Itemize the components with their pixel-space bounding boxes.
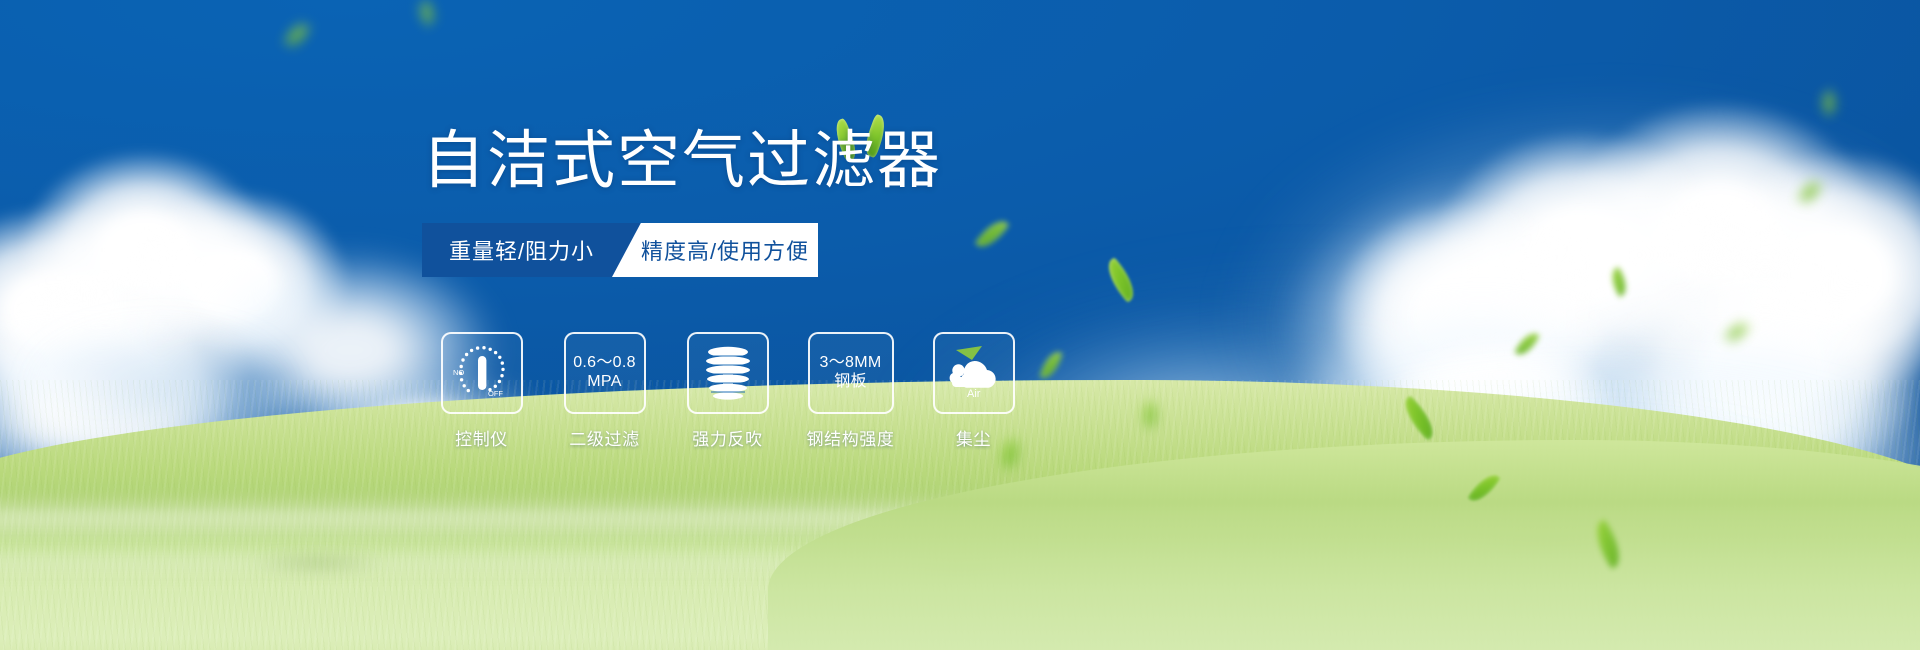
feature-item-pulse-jet[interactable]: 强力反吹 [680,332,775,450]
floating-leaves [0,0,1920,650]
feature-icon-box: 3～8MM 钢板 [808,332,894,414]
leaf-icon [1606,266,1632,297]
feature-label-two-stage-filter: 二级过滤 [569,425,639,450]
feature-icon-box: 0.6～0.8 MPA [564,332,646,414]
leaf-icon [1397,395,1441,441]
gauge-right-label: OFF [488,389,503,398]
feature-item-two-stage-filter[interactable]: 0.6～0.8 MPA 二级过滤 [557,332,652,450]
leaf-icon [284,20,309,50]
tab-precision-convenience[interactable]: 精度高/使用方便 [612,223,818,277]
pressure-text-icon: 0.6～0.8 MPA [573,354,636,392]
steel-plate-text-icon: 3～8MM 钢板 [820,354,882,392]
feature-item-dust-collection[interactable]: Air 集尘 [926,332,1021,450]
feature-icon-box: Air [933,332,1015,414]
leaf-icon [1724,318,1749,346]
gauge-left-label: NO [453,368,464,377]
air-cloud-icon: Air [942,344,1006,402]
banner-title: 自洁式空气过滤器 [422,130,1122,193]
product-banner: 自洁式空气过滤器 重量轻/阻力小 精度高/使用方便 [0,0,1920,650]
feature-label-controller: 控制仪 [455,425,508,450]
leaf-icon [1039,349,1062,382]
feature-label-dust-collection: 集尘 [956,425,991,450]
feature-label-steel-strength: 钢结构强度 [807,425,895,450]
feature-label-pulse-jet: 强力反吹 [692,425,762,450]
leaf-icon [1818,90,1840,116]
feature-item-controller[interactable]: NO OFF 控制仪 [434,332,529,450]
leaf-icon [415,0,439,26]
tab-weight-resistance[interactable]: 重量轻/阻力小 [422,223,645,277]
leaf-icon [1138,400,1162,430]
feature-icon-box: NO OFF [441,332,523,414]
air-label: Air [967,388,981,400]
gauge-dial-icon: NO OFF [452,344,512,402]
feature-icon-box [687,332,769,414]
leaf-icon [1587,518,1628,570]
banner-content: 自洁式空气过滤器 重量轻/阻力小 精度高/使用方便 [422,130,1122,277]
feature-icon-list: NO OFF 控制仪 0.6～0.8 MPA 二级过滤 [434,332,1021,450]
leaf-icon [1467,469,1501,508]
feature-tabs: 重量轻/阻力小 精度高/使用方便 [422,223,818,277]
feature-item-steel-strength[interactable]: 3～8MM 钢板 钢结构强度 [803,332,898,450]
leaf-icon [1514,328,1540,359]
leaf-icon [1798,178,1821,206]
filter-cartridge-icon [701,344,755,402]
